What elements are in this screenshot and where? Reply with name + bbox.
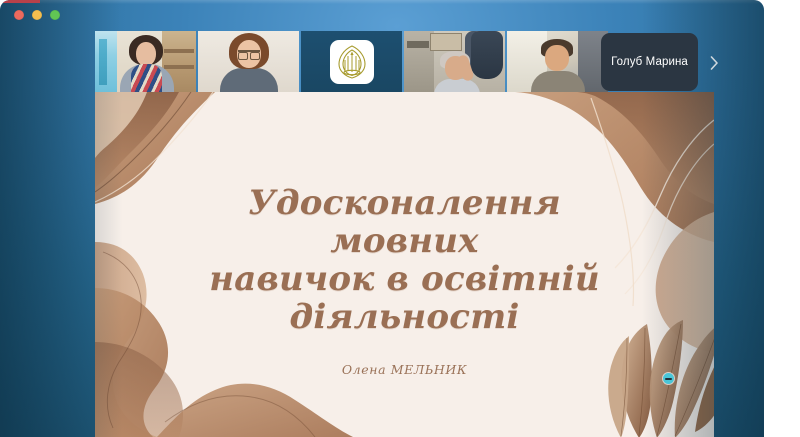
close-button[interactable] — [14, 10, 24, 20]
slide-title-line-2: навичок в освітній — [170, 260, 640, 298]
background-coat — [471, 31, 503, 79]
participant-body — [434, 79, 480, 92]
active-speaker-chip[interactable]: Голуб Марина — [601, 33, 698, 91]
participant-tile-5[interactable] — [507, 31, 608, 92]
window-edge-accent — [0, 0, 40, 3]
slide-title-line-1: Удосконалення мовних — [170, 184, 640, 260]
minimize-button[interactable] — [32, 10, 42, 20]
background-box — [430, 33, 462, 51]
screenshot-root: Голуб Марина — [0, 0, 800, 437]
window-controls[interactable] — [14, 10, 60, 20]
slide-title: Удосконалення мовних навичок в освітній … — [170, 184, 640, 336]
participant-tile-2[interactable] — [198, 31, 299, 92]
presentation-slide[interactable]: Удосконалення мовних навичок в освітній … — [95, 92, 714, 437]
participant-body — [531, 71, 585, 92]
slide-title-line-3: діяльності — [170, 298, 640, 336]
zoom-button[interactable] — [50, 10, 60, 20]
chevron-right-icon[interactable] — [707, 54, 721, 72]
participant-scarf — [131, 64, 162, 92]
slide-author: Олена МЕЛЬНИК — [342, 362, 467, 377]
pointer-dot-icon — [663, 373, 674, 384]
participant-filmstrip[interactable] — [95, 31, 608, 92]
participant-tile-4[interactable] — [404, 31, 505, 92]
institution-emblem-icon — [330, 40, 374, 84]
participant-tile-1[interactable] — [95, 31, 196, 92]
active-speaker-label: Голуб Марина — [611, 56, 688, 68]
background-wall — [95, 31, 117, 92]
glasses-icon — [238, 50, 260, 58]
institution-logo-tile[interactable] — [301, 31, 402, 92]
participant-body — [220, 68, 278, 92]
video-call-window: Голуб Марина — [0, 0, 764, 437]
pointer-dot-core — [665, 378, 672, 380]
slide-text-content: Удосконалення мовних навичок в освітній … — [95, 92, 714, 437]
participant-face — [545, 45, 569, 71]
participant-face — [136, 42, 156, 66]
